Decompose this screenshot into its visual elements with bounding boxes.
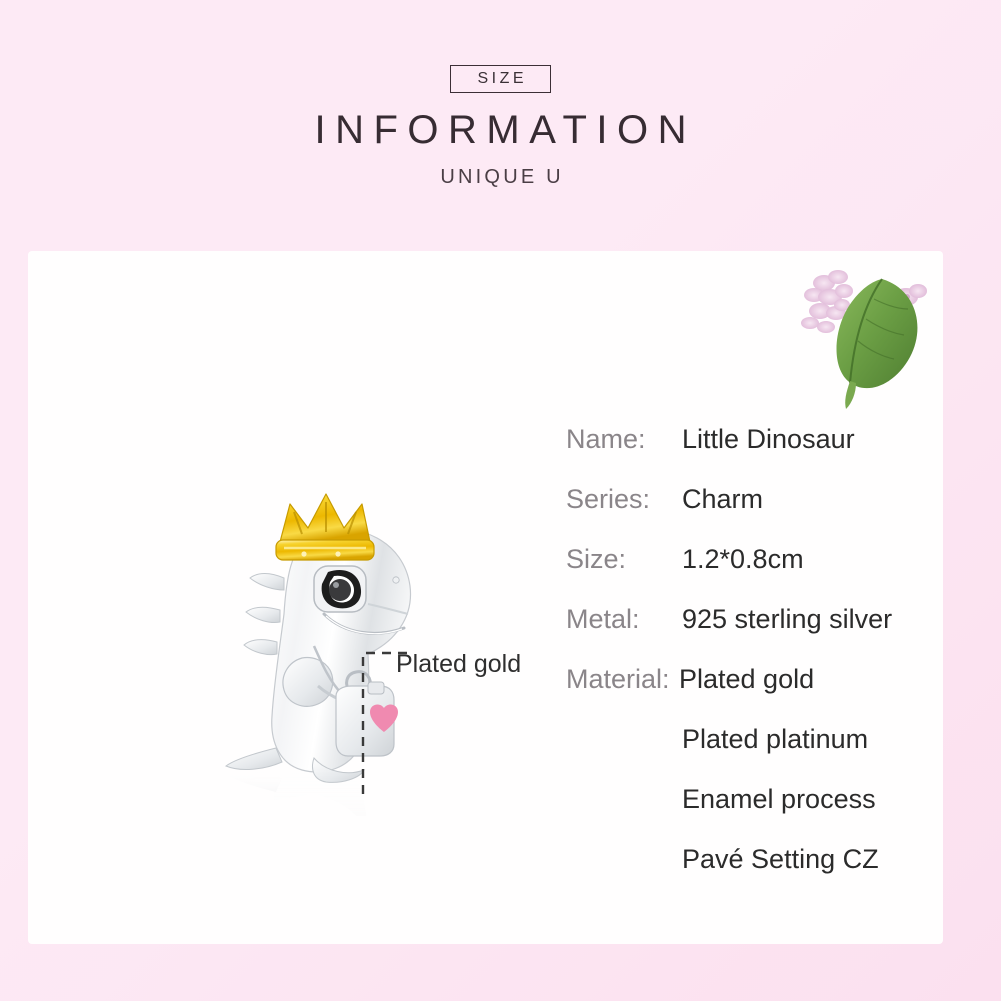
spec-row-material: Material: Plated gold [566,664,966,724]
specification-list: Name: Little Dinosaur Series: Charm Size… [566,424,966,904]
page-root: SIZE INFORMATION UNIQUE U [0,0,1001,1001]
spec-row-material-2: Plated platinum [566,724,966,784]
spec-label-metal: Metal: [566,604,682,635]
spec-row-name: Name: Little Dinosaur [566,424,966,484]
spec-value-metal: 925 sterling silver [682,604,892,635]
spec-row-material-4: Pavé Setting CZ [566,844,966,904]
spec-value-material-3: Enamel process [682,784,876,815]
size-badge: SIZE [450,65,551,93]
spec-label-material: Material: [566,664,679,695]
callout-label-plated-gold: Plated gold [396,649,521,679]
spec-value-name: Little Dinosaur [682,424,855,455]
spec-row-metal: Metal: 925 sterling silver [566,604,966,664]
spec-row-size: Size: 1.2*0.8cm [566,544,966,604]
spec-row-material-3: Enamel process [566,784,966,844]
header: SIZE INFORMATION UNIQUE U [0,0,1001,251]
product-image: Plated gold Plated platinum [28,251,548,944]
lilac-leaf-icon [794,261,939,411]
page-subtitle: UNIQUE U [0,164,1001,190]
spec-value-material: Plated gold [679,664,814,695]
spec-row-series: Series: Charm [566,484,966,544]
spec-value-material-2: Plated platinum [682,724,868,755]
spec-label-name: Name: [566,424,682,455]
spec-value-series: Charm [682,484,763,515]
spec-label-series: Series: [566,484,682,515]
size-badge-label: SIZE [474,70,527,88]
spec-value-size: 1.2*0.8cm [682,544,804,575]
spec-value-material-4: Pavé Setting CZ [682,844,879,875]
spec-label-size: Size: [566,544,682,575]
page-title: INFORMATION [0,106,1001,154]
